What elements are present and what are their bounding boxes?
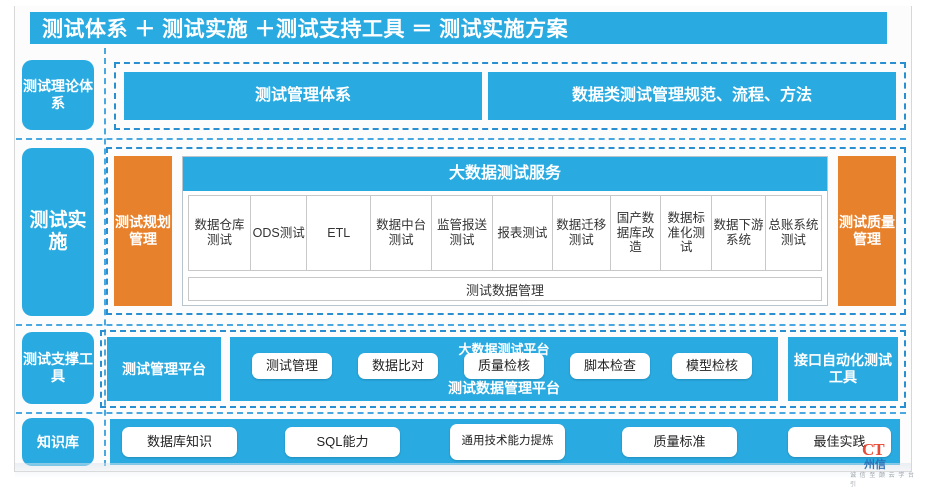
sidebar-item-knowledge-base[interactable]: 知识库 xyxy=(22,418,94,466)
sidebar-item-label: 测试支撑工具 xyxy=(22,351,94,384)
theory-row-container xyxy=(114,62,906,130)
page-title-bar: 测试体系 ＋ 测试实施 ＋测试支持工具 ＝ 测试实施方案 xyxy=(30,12,887,44)
row-separator-1 xyxy=(16,138,906,140)
knowledge-base-pill[interactable]: 通用技术能力提炼 xyxy=(450,424,565,460)
sidebar-item-label: 测试实施 xyxy=(22,210,94,255)
knowledge-base-pill[interactable]: 数据库知识 xyxy=(122,427,237,457)
knowledge-base-pill[interactable]: SQL能力 xyxy=(285,427,400,457)
sidebar-item-support-tools[interactable]: 测试支撑工具 xyxy=(22,332,94,404)
sidebar-item-implementation[interactable]: 测试实施 xyxy=(22,148,94,316)
diagram-canvas: 测试体系 ＋ 测试实施 ＋测试支持工具 ＝ 测试实施方案 测试理论体系 测试实施… xyxy=(0,0,926,486)
page-title: 测试体系 ＋ 测试实施 ＋测试支持工具 ＝ 测试实施方案 xyxy=(42,13,568,43)
sidebar-item-label: 知识库 xyxy=(37,434,79,451)
watermark-tiny: 诚 信 至 颠 云 学 台 引 xyxy=(850,470,924,488)
sidebar-item-theory[interactable]: 测试理论体系 xyxy=(22,60,94,130)
row-separator-3 xyxy=(16,412,906,414)
row-separator-2 xyxy=(16,324,906,326)
knowledge-base-pill[interactable]: 最佳实践 xyxy=(788,427,891,457)
knowledge-base-pill[interactable]: 质量标准 xyxy=(622,427,737,457)
support-row-container xyxy=(100,330,906,408)
sidebar-item-label: 测试理论体系 xyxy=(22,78,94,111)
implementation-row-container xyxy=(106,147,906,315)
